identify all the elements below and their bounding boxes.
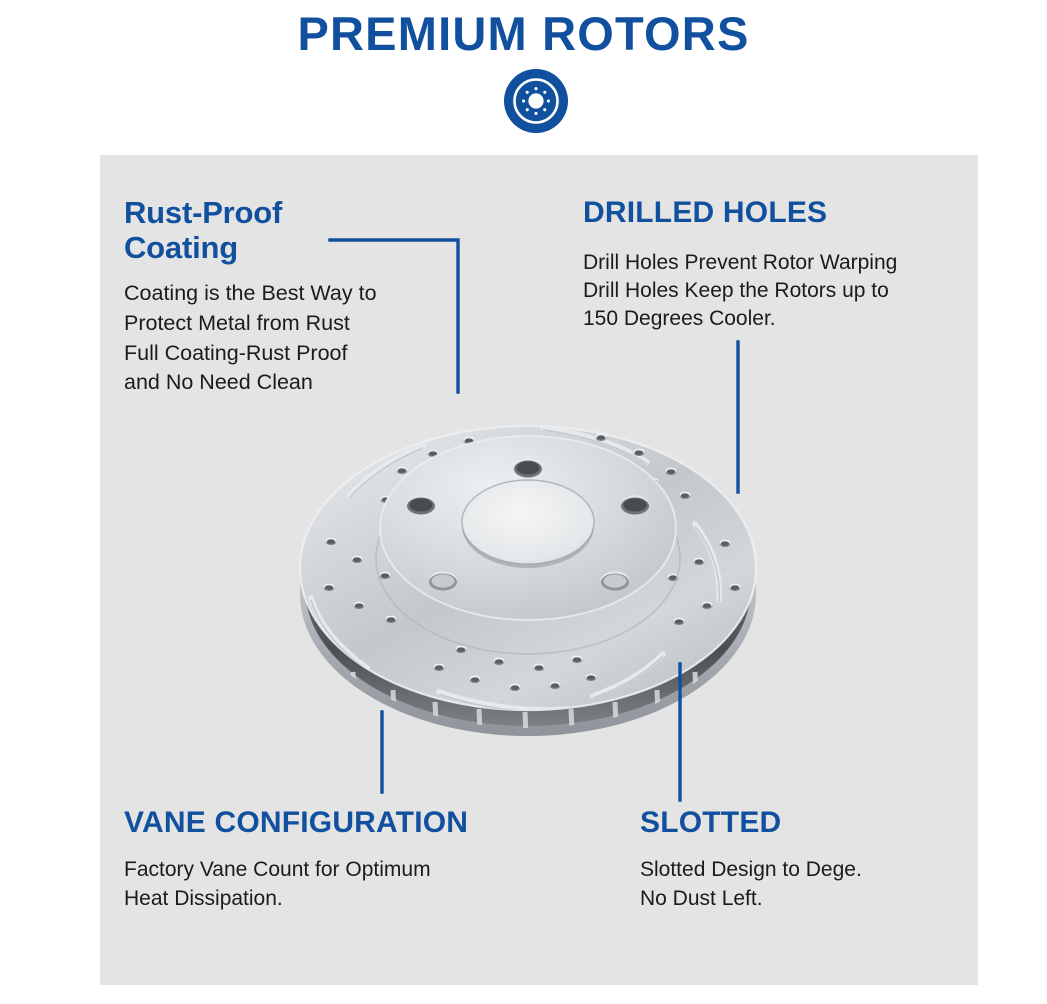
callout-body-slotted: Slotted Design to Dege. No Dust Left. xyxy=(640,855,970,914)
callout-heading-slotted: SLOTTED xyxy=(640,806,970,840)
callout-body-drilled-holes: Drill Holes Prevent Rotor Warping Drill … xyxy=(583,249,983,334)
page-title: PREMIUM ROTORS xyxy=(0,9,1047,60)
callout-body-rust-proof-coating: Coating is the Best Way to Protect Metal… xyxy=(124,279,444,398)
infographic-page: PREMIUM ROTORS xyxy=(0,0,1047,1004)
callout-slotted: SLOTTED Slotted Design to Dege. No Dust … xyxy=(640,806,970,913)
brake-rotor-icon xyxy=(503,68,569,134)
callout-vane-configuration: VANE CONFIGURATION Factory Vane Count fo… xyxy=(124,806,554,913)
brake-rotor-product-image xyxy=(243,372,813,772)
callout-rust-proof-coating: Rust-Proof Coating Coating is the Best W… xyxy=(124,196,444,398)
callout-drilled-holes: DRILLED HOLES Drill Holes Prevent Rotor … xyxy=(583,196,983,334)
callout-body-vane-configuration: Factory Vane Count for Optimum Heat Diss… xyxy=(124,855,554,914)
callout-heading-vane-configuration: VANE CONFIGURATION xyxy=(124,806,554,840)
callout-heading-rust-proof-coating: Rust-Proof Coating xyxy=(124,196,444,265)
callout-heading-drilled-holes: DRILLED HOLES xyxy=(583,196,983,230)
